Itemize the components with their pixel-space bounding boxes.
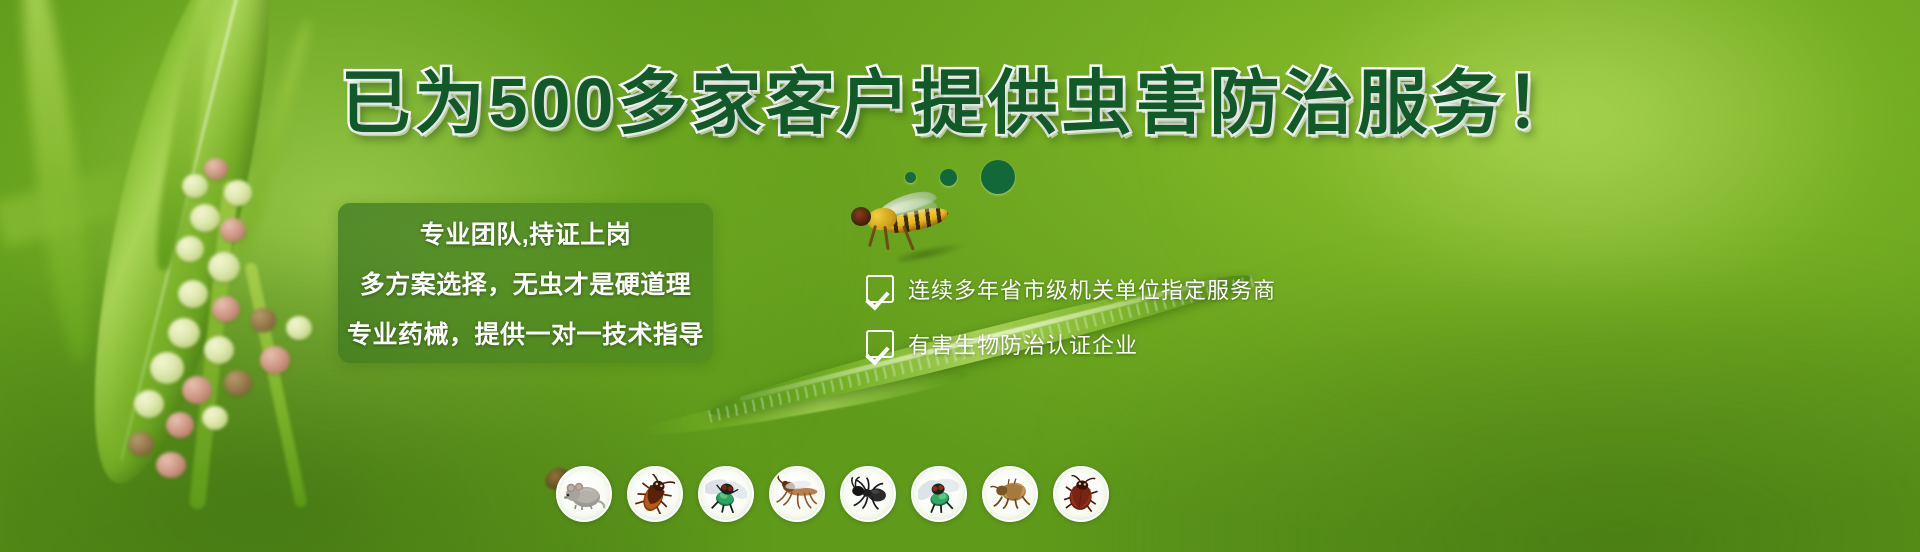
selling-points-panel: 专业团队,持证上岗 多方案选择，无虫才是硬道理 专业药械，提供一对一技术指导 [338, 203, 713, 363]
flea-icon[interactable]: 跳蚤 [982, 466, 1038, 522]
pest-control-hero-banner: 已为500多家客户提供虫害防治服务！ 专业团队,持证上岗 多方案选择，无虫才是硬… [0, 0, 1920, 552]
list-item: 有害生物防治认证企业 [866, 328, 1276, 360]
selling-point-line-3: 专业药械，提供一对一技术指导 [347, 315, 704, 351]
selling-point-line-1: 专业团队,持证上岗 [420, 215, 631, 251]
list-item: 连续多年省市级机关单位指定服务商 [866, 273, 1276, 305]
fly-icon[interactable]: 苍蝇 [911, 466, 967, 522]
credential-label: 有害生物防治认证企业 [908, 328, 1138, 360]
checkbox-checked-icon [866, 275, 894, 303]
dot-small-icon [905, 172, 916, 183]
mouse-icon[interactable]: 鼠 [556, 466, 612, 522]
page-title-text: 已为500多家客户提供虫害防治服务！ [341, 64, 1580, 142]
dot-large-icon [981, 160, 1015, 194]
checkbox-checked-icon [866, 330, 894, 358]
hoverfly-illustration [845, 197, 960, 253]
credentials-checklist: 连续多年省市级机关单位指定服务商 有害生物防治认证企业 [866, 273, 1276, 360]
fly-icon[interactable]: 苍蝇 [698, 466, 754, 522]
page-title: 已为500多家客户提供虫害防治服务！ [0, 68, 1920, 138]
credential-label: 连续多年省市级机关单位指定服务商 [908, 273, 1276, 305]
bedbug-icon[interactable]: 臭虫 [1053, 466, 1109, 522]
selling-point-line-2: 多方案选择，无虫才是硬道理 [360, 265, 692, 301]
decorative-dots [0, 160, 1920, 194]
mosquito-icon[interactable]: 蚊 [769, 466, 825, 522]
cockroach-icon[interactable]: 蟑螂 [627, 466, 683, 522]
plant-stem [244, 261, 308, 508]
pest-types-row: 鼠 蟑螂 [556, 466, 1109, 522]
ant-icon[interactable]: 蚂蚁 [840, 466, 896, 522]
dot-medium-icon [940, 169, 957, 186]
